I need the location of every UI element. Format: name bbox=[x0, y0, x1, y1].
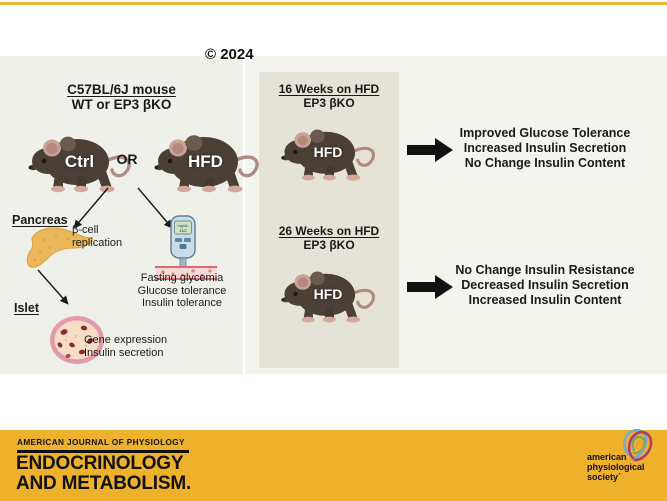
outcome-26-line1: No Change Insulin Resistance bbox=[430, 263, 660, 278]
journal-kicker: AMERICAN JOURNAL OF PHYSIOLOGY bbox=[17, 438, 185, 447]
mouse-illustration-26-weeks: HFD bbox=[275, 260, 381, 331]
beta-cell-note-line1: β-cell bbox=[72, 224, 162, 237]
outcomes-16-weeks: Improved Glucose Tolerance Increased Ins… bbox=[430, 126, 660, 171]
graphical-abstract-canvas: C57BL/6J mouse WT or EP3 βKO bbox=[0, 56, 667, 374]
or-connector-label: OR bbox=[105, 151, 149, 167]
top-gold-rule bbox=[0, 2, 667, 5]
glucometer-icon: mg/dL 112 bbox=[155, 214, 217, 280]
svg-text:112: 112 bbox=[179, 228, 187, 233]
timepoint-title-16-weeks: 16 Weeks on HFD EP3 βKO bbox=[259, 82, 399, 110]
timepoint-16-line1: 16 Weeks on HFD bbox=[259, 82, 399, 96]
islet-note-line2: Insulin secretion bbox=[84, 347, 204, 360]
outcomes-26-weeks: No Change Insulin Resistance Decreased I… bbox=[430, 263, 660, 308]
society-name: american physiological society´ bbox=[587, 452, 645, 482]
design-title-line1: C57BL/6J mouse bbox=[0, 82, 243, 97]
journal-title: ENDOCRINOLOGY AND METABOLISM. bbox=[16, 454, 191, 494]
outcome-26-line3: Increased Insulin Content bbox=[430, 293, 660, 308]
society-line1: american bbox=[587, 452, 645, 462]
timepoint-26-line1: 26 Weeks on HFD bbox=[259, 224, 399, 238]
islet-label: Islet bbox=[14, 301, 39, 315]
society-line2: physiological bbox=[587, 462, 645, 472]
beta-cell-replication-note: β-cell replication bbox=[72, 224, 162, 249]
design-title-line2: WT or EP3 βKO bbox=[0, 97, 243, 112]
glycemia-note-line3: Insulin tolerance bbox=[126, 297, 238, 310]
timepoint-26-line2: EP3 βKO bbox=[259, 238, 399, 252]
timepoint-26-mouse-label: HFD bbox=[275, 286, 381, 302]
mouse-illustration-16-weeks: HFD bbox=[275, 118, 381, 189]
timepoint-16-line2: EP3 βKO bbox=[259, 96, 399, 110]
mouse-hfd-label: HFD bbox=[148, 152, 263, 172]
outcome-16-line1: Improved Glucose Tolerance bbox=[430, 126, 660, 141]
pancreas-to-islet-arrow bbox=[30, 268, 100, 314]
timepoint-title-26-weeks: 26 Weeks on HFD EP3 βKO bbox=[259, 224, 399, 252]
journal-title-line1: ENDOCRINOLOGY bbox=[16, 454, 191, 474]
outcome-16-line3: No Change Insulin Content bbox=[430, 156, 660, 171]
journal-banner: AMERICAN JOURNAL OF PHYSIOLOGY ENDOCRINO… bbox=[0, 430, 667, 501]
timepoint-column: 16 Weeks on HFD EP3 βKO bbox=[259, 72, 399, 368]
islet-outcome-note: Gene expression Insulin secretion bbox=[84, 334, 204, 359]
journal-title-line2: AND METABOLISM. bbox=[16, 474, 191, 494]
experimental-design-panel: C57BL/6J mouse WT or EP3 βKO bbox=[0, 56, 245, 374]
timepoint-16-mouse-label: HFD bbox=[275, 144, 381, 160]
glycemia-note-line2: Glucose tolerance bbox=[126, 285, 238, 298]
islet-note-line1: Gene expression bbox=[84, 334, 204, 347]
design-panel-title: C57BL/6J mouse WT or EP3 βKO bbox=[0, 82, 243, 112]
beta-cell-note-line2: replication bbox=[72, 237, 162, 250]
glycemia-assays-note: Fasting glycemia Glucose tolerance Insul… bbox=[126, 272, 238, 310]
society-line3: society´ bbox=[587, 472, 645, 482]
glycemia-note-line1: Fasting glycemia bbox=[126, 272, 238, 285]
outcome-26-line2: Decreased Insulin Secretion bbox=[430, 278, 660, 293]
copyright-notice: © 2024 bbox=[205, 46, 254, 63]
outcome-16-line2: Increased Insulin Secretion bbox=[430, 141, 660, 156]
